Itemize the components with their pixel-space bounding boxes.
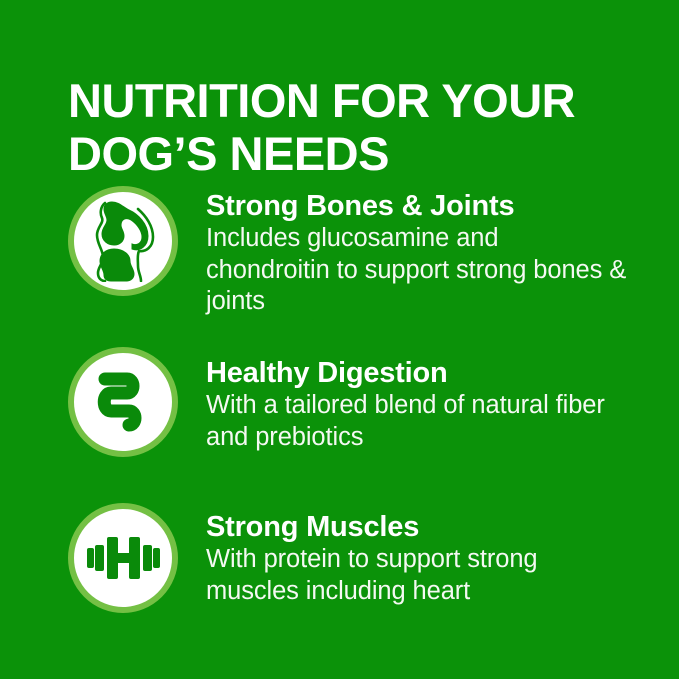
bone-joint-icon xyxy=(90,200,156,282)
feature-description: With protein to support strong muscles i… xyxy=(206,544,628,606)
feature-row: Strong Muscles With protein to support s… xyxy=(68,503,628,613)
feature-title: Strong Muscles xyxy=(206,511,628,543)
feature-row: Healthy Digestion With a tailored blend … xyxy=(68,347,628,457)
feature-title: Strong Bones & Joints xyxy=(206,190,628,222)
dumbbell-icon-badge xyxy=(68,503,178,613)
feature-text: Healthy Digestion With a tailored blend … xyxy=(178,347,628,453)
feature-description: With a tailored blend of natural fiber a… xyxy=(206,390,628,452)
feature-title: Healthy Digestion xyxy=(206,357,628,389)
feature-text: Strong Muscles With protein to support s… xyxy=(178,503,628,607)
feature-text: Strong Bones & Joints Includes glucosami… xyxy=(178,186,628,317)
bone-joint-icon-badge xyxy=(68,186,178,296)
intestine-icon xyxy=(91,367,155,437)
dumbbell-icon xyxy=(86,534,160,582)
intestine-icon-badge xyxy=(68,347,178,457)
feature-description: Includes glucosamine and chondroitin to … xyxy=(206,223,628,316)
feature-row: Strong Bones & Joints Includes glucosami… xyxy=(68,186,628,317)
page-title: NUTRITION FOR YOUR DOG’S NEEDS xyxy=(68,75,628,180)
nutrition-benefits-panel: NUTRITION FOR YOUR DOG’S NEEDS xyxy=(0,0,679,679)
